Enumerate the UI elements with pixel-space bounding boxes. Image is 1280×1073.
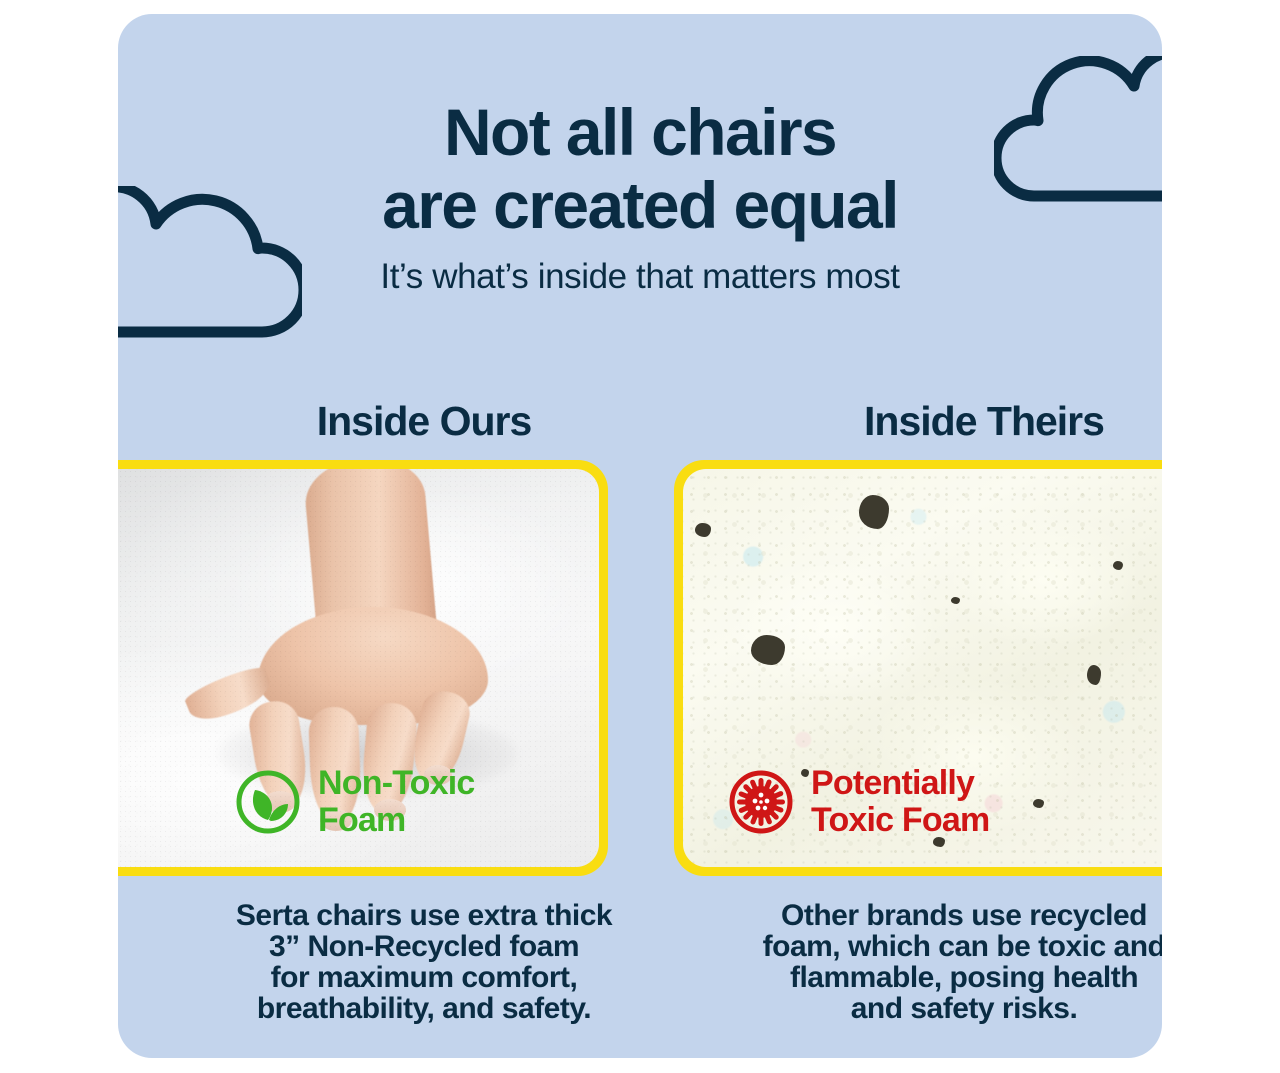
headline-line-2: are created equal <box>118 169 1162 242</box>
infographic-card: Not all chairs are created equal It’s wh… <box>118 14 1162 1058</box>
badge-potentially-toxic-foam: Potentially Toxic Foam <box>727 765 989 839</box>
column-heading-theirs: Inside Theirs <box>678 396 1162 446</box>
headline-line-1: Not all chairs <box>118 96 1162 169</box>
germ-icon <box>727 768 795 836</box>
badge-non-toxic-foam: Non-Toxic Foam <box>234 765 475 839</box>
photo-frame-theirs: Potentially Toxic Foam <box>674 460 1162 876</box>
infographic-stage: Not all chairs are created equal It’s wh… <box>0 0 1280 1073</box>
caption-theirs: Other brands use recycled foam, which ca… <box>678 900 1162 1024</box>
foam-photo-theirs: Potentially Toxic Foam <box>683 469 1162 867</box>
subheadline: It’s what’s inside that matters most <box>118 256 1162 298</box>
foam-photo-ours: Non-Toxic Foam <box>118 469 599 867</box>
badge-label-potentially-toxic: Potentially Toxic Foam <box>811 765 989 839</box>
leaf-icon <box>234 768 302 836</box>
headline-block: Not all chairs are created equal It’s wh… <box>118 96 1162 298</box>
column-heading-ours: Inside Ours <box>118 396 730 446</box>
badge-label-non-toxic: Non-Toxic Foam <box>318 765 475 839</box>
caption-ours: Serta chairs use extra thick 3” Non-Recy… <box>138 900 710 1024</box>
photo-frame-ours: Non-Toxic Foam <box>118 460 608 876</box>
